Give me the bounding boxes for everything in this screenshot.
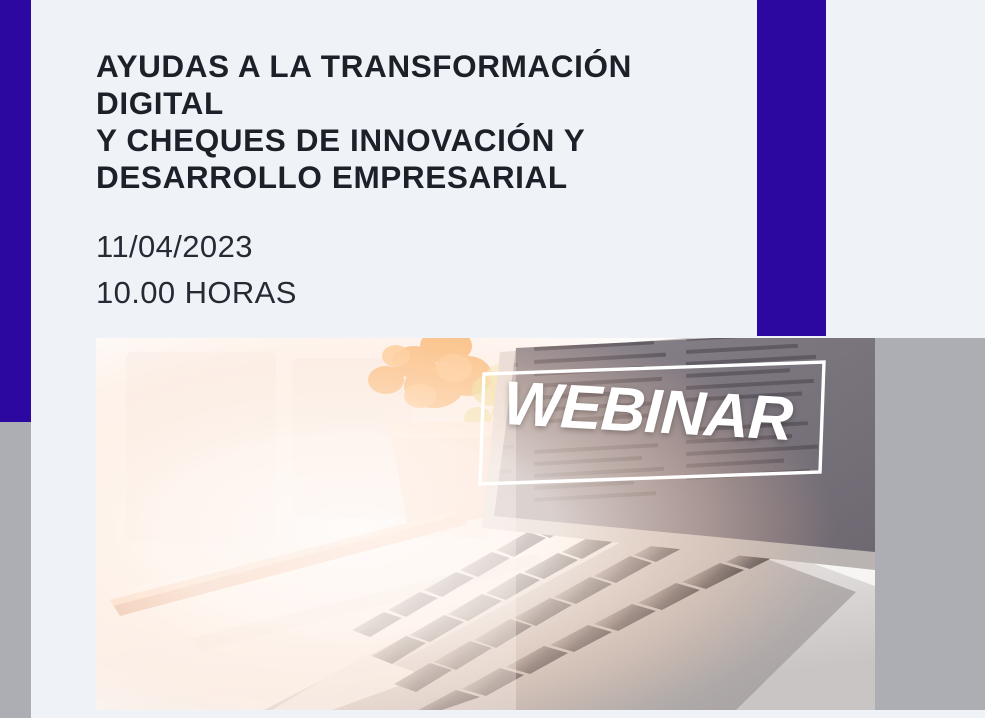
decorative-bar-purple-left	[0, 0, 31, 422]
decorative-bar-purple-right	[757, 0, 826, 336]
decorative-block-gray-right	[875, 338, 985, 710]
webinar-poster: AYUDAS A LA TRANSFORMACIÓN DIGITAL Y CHE…	[0, 0, 985, 718]
decorative-bar-gray-left	[0, 422, 31, 718]
event-time: 10.00 HORAS	[96, 270, 746, 316]
event-date: 11/04/2023	[96, 224, 746, 270]
text-column: AYUDAS A LA TRANSFORMACIÓN DIGITAL Y CHE…	[96, 48, 746, 316]
page-title: AYUDAS A LA TRANSFORMACIÓN DIGITAL Y CHE…	[96, 48, 746, 196]
event-meta: 11/04/2023 10.00 HORAS	[96, 224, 746, 316]
